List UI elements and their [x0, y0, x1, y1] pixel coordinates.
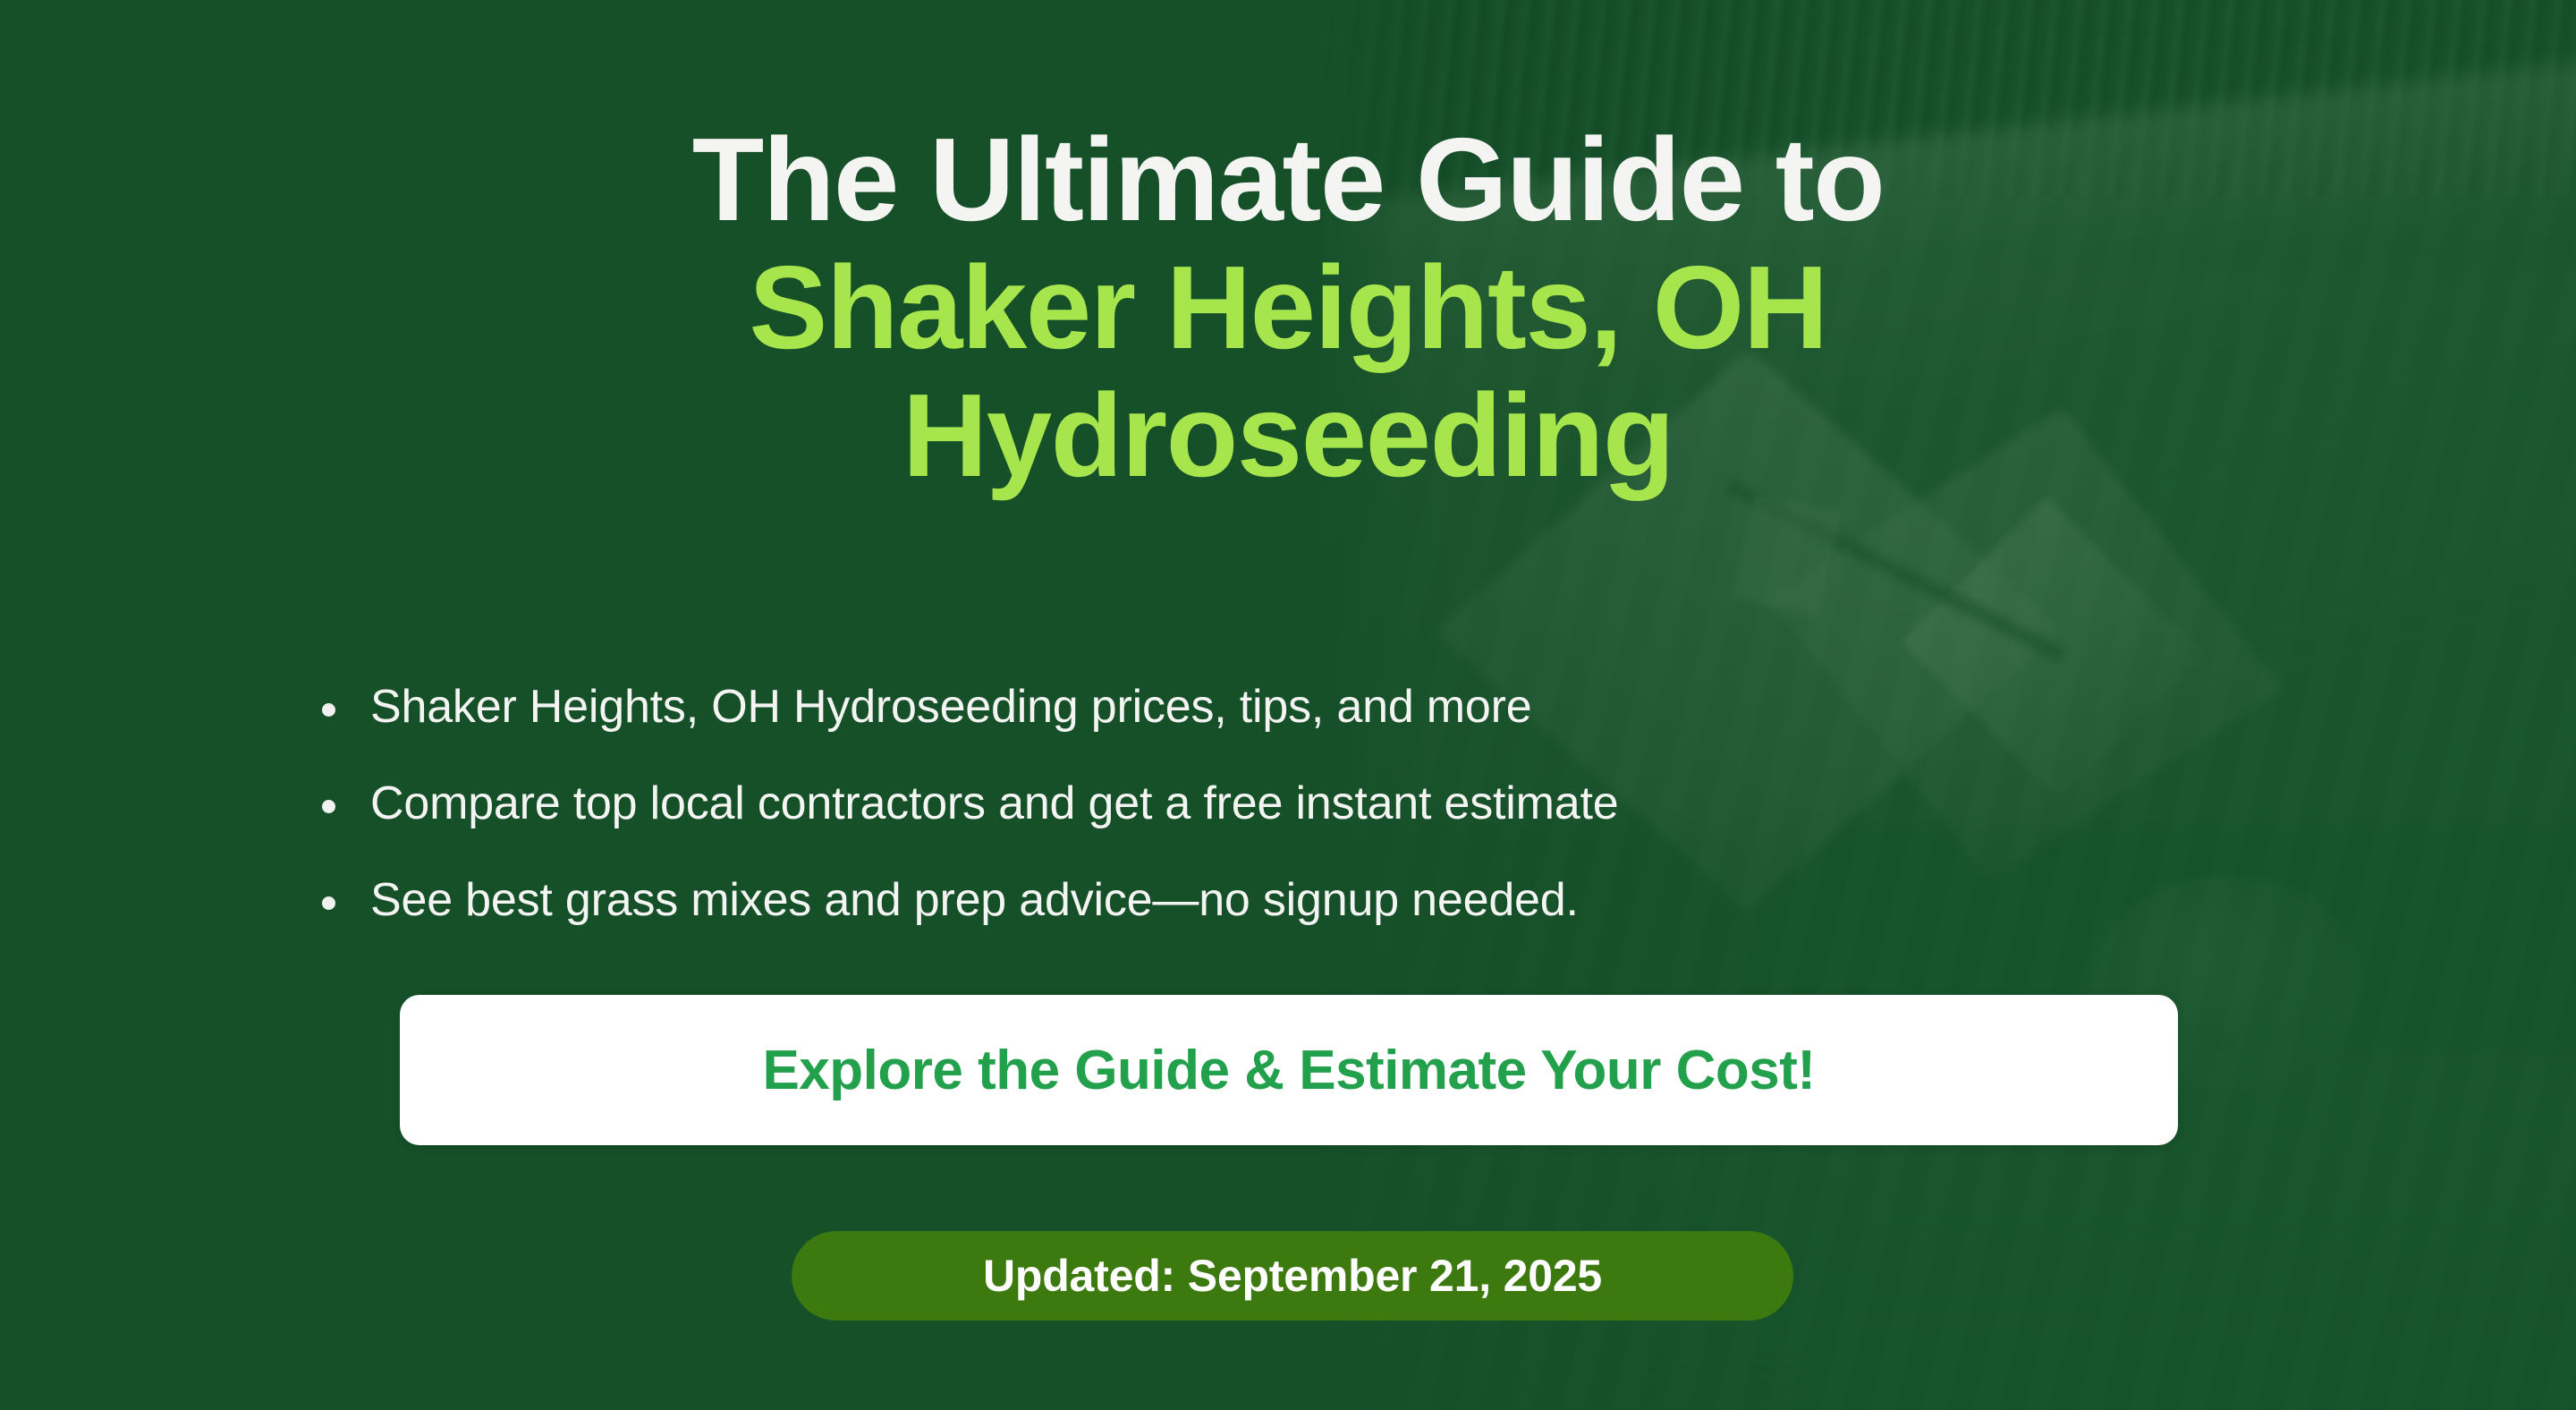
- updated-date-badge: Updated: September 21, 2025: [792, 1231, 1793, 1321]
- hero-content: The Ultimate Guide to Shaker Heights, OH…: [0, 0, 2576, 1410]
- list-item-label: Shaker Heights, OH Hydroseeding prices, …: [370, 681, 1531, 733]
- cta-button-label: Explore the Guide & Estimate Your Cost!: [762, 1039, 1815, 1102]
- headline-line-1: The Ultimate Guide to: [188, 116, 2388, 244]
- list-item-label: Compare top local contractors and get a …: [370, 777, 1618, 829]
- bullet-dot-icon: [322, 800, 335, 813]
- bullet-dot-icon: [322, 896, 335, 910]
- headline-line-3: Hydroseeding: [188, 372, 2388, 500]
- list-item-label: See best grass mixes and prep advice—no …: [370, 874, 1579, 926]
- explore-guide-cta-button[interactable]: Explore the Guide & Estimate Your Cost!: [400, 995, 2178, 1145]
- hero-banner: The Ultimate Guide to Shaker Heights, OH…: [0, 0, 2576, 1410]
- page-title: The Ultimate Guide to Shaker Heights, OH…: [0, 116, 2576, 499]
- list-item: See best grass mixes and prep advice—no …: [315, 875, 2274, 925]
- list-item: Compare top local contractors and get a …: [315, 778, 2274, 828]
- bullet-dot-icon: [322, 703, 335, 717]
- updated-date-label: Updated: September 21, 2025: [983, 1250, 1602, 1302]
- headline-line-2: Shaker Heights, OH: [188, 244, 2388, 372]
- benefit-list: Shaker Heights, OH Hydroseeding prices, …: [315, 682, 2274, 925]
- list-item: Shaker Heights, OH Hydroseeding prices, …: [315, 682, 2274, 732]
